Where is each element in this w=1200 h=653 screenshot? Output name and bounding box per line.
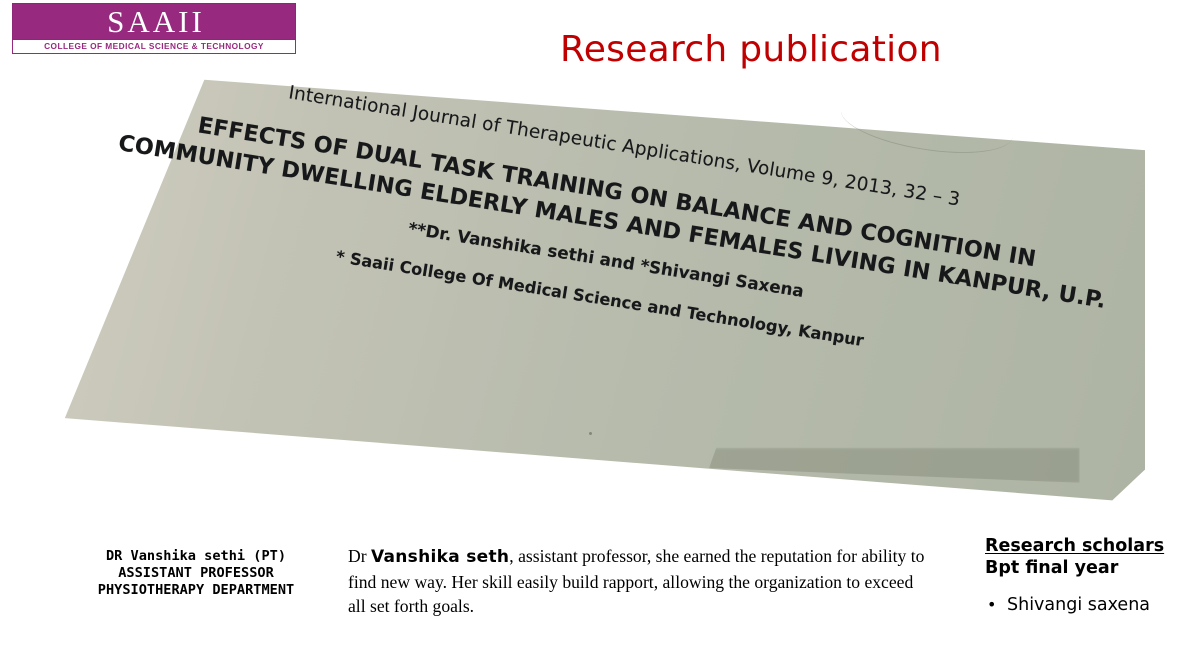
faculty-bio: Dr Vanshika seth, assistant professor, s… (348, 544, 928, 619)
research-scholars-section: Research scholars Bpt final year Shivang… (985, 535, 1195, 617)
credit-name: DR Vanshika sethi (PT) (48, 548, 344, 565)
scholars-list: Shivangi saxena (985, 593, 1195, 617)
scholars-subheading: Bpt final year (985, 557, 1195, 580)
paper-text-layer: International Journal of Therapeutic App… (27, 0, 1173, 601)
faculty-credit: DR Vanshika sethi (PT) ASSISTANT PROFESS… (48, 548, 344, 599)
credit-designation: ASSISTANT PROFESSOR (48, 565, 344, 582)
credit-department: PHYSIOTHERAPY DEPARTMENT (48, 582, 344, 599)
page-title: Research publication (560, 29, 942, 70)
list-item: Shivangi saxena (1007, 593, 1195, 617)
bio-prefix: Dr (348, 546, 371, 566)
bio-name: Vanshika seth (371, 547, 509, 567)
scholars-heading: Research scholars (985, 535, 1195, 557)
publication-photo: International Journal of Therapeutic App… (55, 78, 1145, 518)
